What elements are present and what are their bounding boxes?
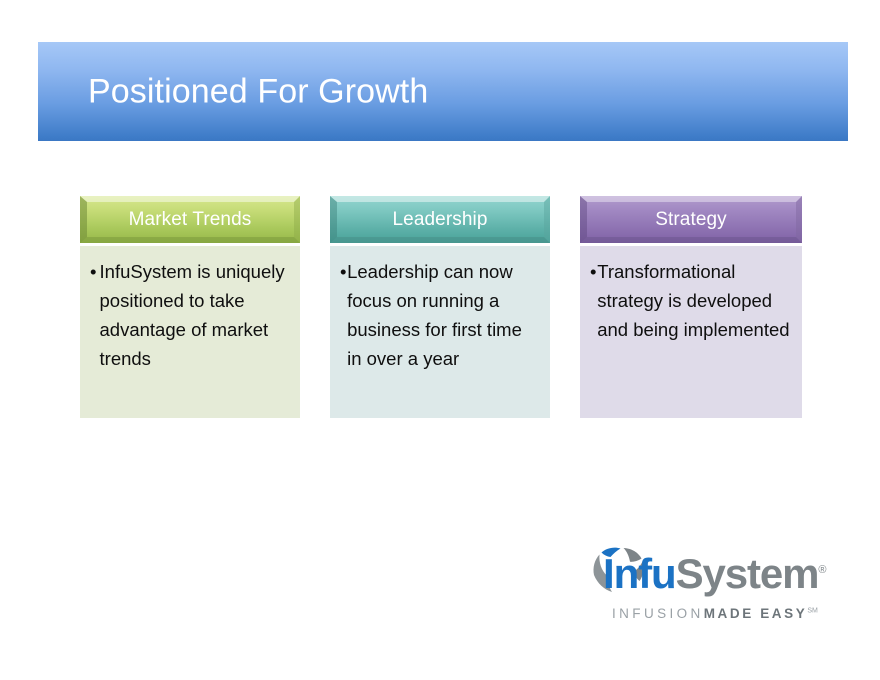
bullet-text: Transformational strategy is developed a…: [597, 258, 792, 345]
tagline-made-easy: MADE EASY: [704, 606, 808, 621]
logo-name-infu: Infu: [603, 550, 676, 597]
title-banner: Positioned For Growth: [38, 42, 848, 141]
logo-tagline: INFUSIONMADE EASYSM: [612, 607, 818, 621]
bullet-item: • Transformational strategy is developed…: [590, 258, 792, 345]
card-header-label: Strategy: [655, 210, 727, 229]
card-group: Market Trends • InfuSystem is uniquely p…: [0, 196, 880, 426]
bullet-item: • Leadership can now focus on running a …: [340, 258, 540, 373]
slide-canvas: Positioned For Growth Market Trends • In…: [0, 0, 880, 680]
bullet-point-icon: •: [590, 258, 596, 287]
card-leadership: Leadership • Leadership can now focus on…: [330, 196, 550, 418]
company-logo: InfuSystem® INFUSIONMADE EASYSM: [590, 543, 825, 633]
card-body-strategy: • Transformational strategy is developed…: [580, 246, 802, 418]
bullet-point-icon: •: [340, 258, 346, 287]
card-body-leadership: • Leadership can now focus on running a …: [330, 246, 550, 418]
bullet-point-icon: •: [90, 258, 96, 287]
bullet-item: • InfuSystem is uniquely positioned to t…: [90, 258, 290, 373]
card-header-strategy: Strategy: [580, 196, 802, 243]
card-strategy: Strategy • Transformational strategy is …: [580, 196, 802, 418]
tagline-infusion: INFUSION: [612, 606, 704, 621]
card-header-label: Market Trends: [129, 210, 252, 229]
registered-trademark-icon: ®: [818, 564, 826, 576]
service-mark-icon: SM: [807, 608, 818, 615]
bullet-text: Leadership can now focus on running a bu…: [347, 258, 540, 373]
card-body-market-trends: • InfuSystem is uniquely positioned to t…: [80, 246, 300, 418]
logo-name-system: System: [676, 550, 819, 597]
card-header-label: Leadership: [392, 210, 487, 229]
card-header-leadership: Leadership: [330, 196, 550, 243]
bullet-text: InfuSystem is uniquely positioned to tak…: [100, 258, 290, 373]
logo-wordmark: InfuSystem®: [603, 553, 827, 595]
card-header-market-trends: Market Trends: [80, 196, 300, 243]
page-title: Positioned For Growth: [88, 73, 428, 110]
card-market-trends: Market Trends • InfuSystem is uniquely p…: [80, 196, 300, 418]
